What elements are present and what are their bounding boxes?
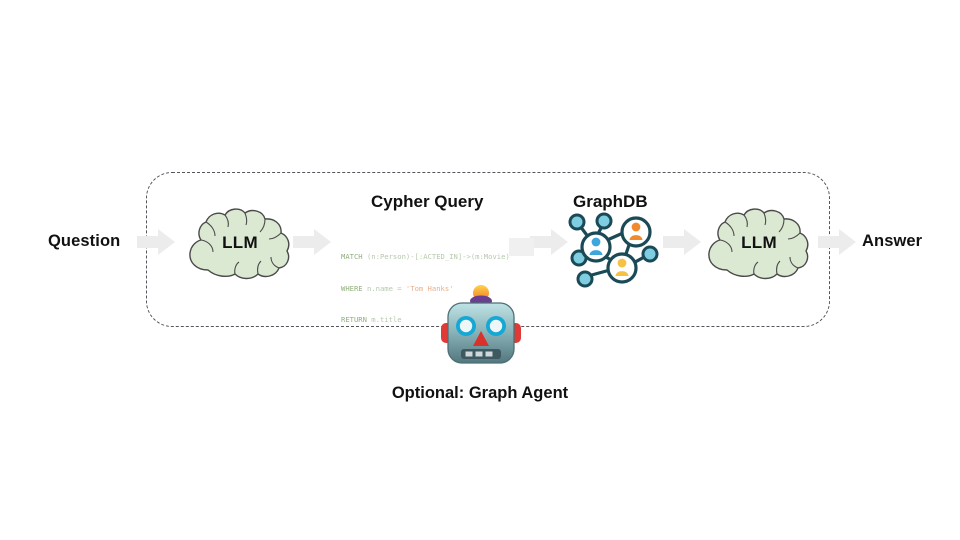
arrow-question-to-llm-icon (137, 229, 175, 255)
code-keyword-return: RETURN (341, 315, 367, 324)
arrow-head (684, 229, 701, 255)
diagram-canvas: Question Answer LLM (0, 0, 960, 540)
arrow-llm-to-answer-icon (818, 229, 856, 255)
arrow-shaft (663, 236, 686, 248)
graphdb-title: GraphDB (573, 192, 648, 212)
arrow-shaft (293, 236, 316, 248)
llm-cloud-right: LLM (705, 204, 813, 282)
arrow-head (839, 229, 856, 255)
cypher-query-title: Cypher Query (371, 192, 483, 212)
graph-network-icon (566, 212, 660, 288)
arrow-shaft (137, 236, 160, 248)
arrow-shaft (818, 236, 841, 248)
code-line-1-rest: (n:Person)-[:ACTED_IN]->(m:Movie) (363, 252, 510, 261)
arrow-cypher-to-graphdb-icon (530, 229, 568, 255)
code-line-3-rest: m.title (367, 315, 402, 324)
arrow-head (158, 229, 175, 255)
code-keyword-match: MATCH (341, 252, 363, 261)
llm-cloud-right-label: LLM (705, 204, 813, 282)
code-line-1: MATCH (n:Person)-[:ACTED_IN]->(m:Movie) (341, 252, 510, 263)
robot-icon (437, 283, 525, 371)
arrow-graphdb-to-llm-icon (663, 229, 701, 255)
llm-cloud-left-label: LLM (186, 204, 294, 282)
optional-graph-agent-caption: Optional: Graph Agent (0, 384, 960, 403)
arrow-head (314, 229, 331, 255)
answer-label: Answer (862, 232, 922, 251)
llm-cloud-left: LLM (186, 204, 294, 282)
code-block-trailing-highlight (509, 238, 534, 256)
code-line-2-mid: n.name = (363, 284, 406, 293)
code-keyword-where: WHERE (341, 284, 363, 293)
question-label: Question (48, 232, 120, 251)
arrow-llm-to-cypher-icon (293, 229, 331, 255)
